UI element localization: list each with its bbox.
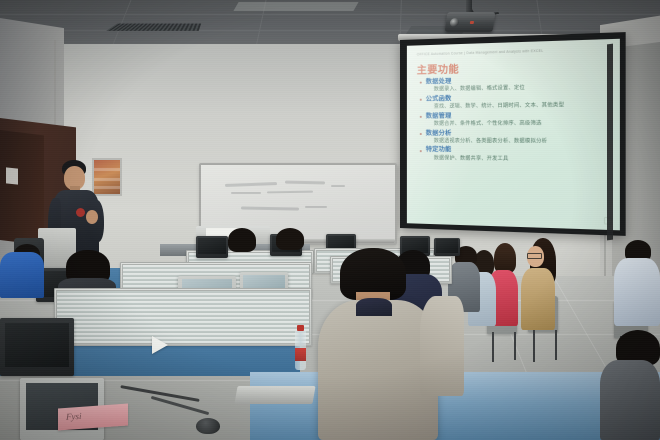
hair bbox=[228, 228, 256, 252]
bottle-cap bbox=[297, 325, 304, 331]
hair bbox=[276, 228, 304, 250]
slide-surface: OFFICE Automation Course | Data Manageme… bbox=[407, 39, 620, 231]
water-bottle bbox=[295, 330, 306, 370]
projection-screen: OFFICE Automation Course | Data Manageme… bbox=[400, 32, 626, 236]
projector-lens-icon bbox=[449, 18, 459, 27]
slide-section-detail: 数据透视表分析、各类图表分析、数据模拟分析 bbox=[419, 138, 613, 146]
slide-header: OFFICE Automation Course | Data Manageme… bbox=[417, 47, 611, 57]
monitor bbox=[196, 236, 228, 258]
torso bbox=[521, 268, 555, 330]
slide-section: 数据处理 数据录入、数据编辑、格式设置、定位 bbox=[419, 75, 613, 94]
wall-poster bbox=[92, 158, 122, 196]
slide-section-detail: 数据保护、数据共享、开发工具 bbox=[419, 155, 613, 164]
slide-section-heading: 数据管理 bbox=[419, 111, 613, 121]
bottle-label bbox=[295, 348, 306, 361]
presenter-shirt-logo-icon bbox=[76, 208, 85, 217]
slide-section: 数据管理 数据合并、条件格式、个性化排序、高级筛选 bbox=[419, 111, 613, 128]
slide-section: 数据分析 数据透视表分析、各类图表分析、数据模拟分析 bbox=[419, 129, 613, 146]
keyboard bbox=[234, 386, 315, 404]
slide-section-heading: 数据分析 bbox=[419, 129, 613, 138]
ceiling-projector bbox=[445, 12, 496, 32]
torso bbox=[600, 360, 660, 440]
slide-section-detail: 数据合并、条件格式、个性化排序、高级筛选 bbox=[419, 120, 613, 128]
glasses-icon bbox=[527, 253, 542, 259]
slide-section: 特定功能 数据保护、数据共享、开发工具 bbox=[419, 147, 613, 164]
paper-flag bbox=[152, 336, 168, 354]
slide-section-heading: 特定功能 bbox=[419, 147, 613, 157]
projector-led-icon bbox=[470, 21, 474, 24]
presenter-hand bbox=[86, 210, 98, 224]
computer-mouse bbox=[196, 418, 220, 434]
monitor bbox=[0, 318, 74, 376]
ceiling-vent-icon bbox=[106, 23, 201, 30]
slide-title: 主要功能 bbox=[417, 60, 459, 76]
torso bbox=[614, 258, 660, 326]
jacket-collar bbox=[356, 298, 392, 316]
desk-divider-glass bbox=[56, 290, 310, 344]
slide-body: 数据处理 数据录入、数据编辑、格式设置、定位 公式函数 查找、逻辑、数学、统计、… bbox=[419, 75, 613, 166]
wall-notice-paper bbox=[6, 167, 18, 184]
screen-right-shadow bbox=[607, 44, 613, 241]
ceiling-light bbox=[233, 2, 358, 11]
jacket-shoulder-right bbox=[420, 296, 464, 396]
hair bbox=[494, 243, 516, 273]
slide-section: 公式函数 查找、逻辑、数学、统计、日期时间、文本、其他类型 bbox=[419, 93, 613, 111]
classroom-photo: OFFICE Automation Course | Data Manageme… bbox=[0, 0, 660, 440]
torso bbox=[0, 252, 44, 298]
monitor bbox=[434, 238, 460, 256]
